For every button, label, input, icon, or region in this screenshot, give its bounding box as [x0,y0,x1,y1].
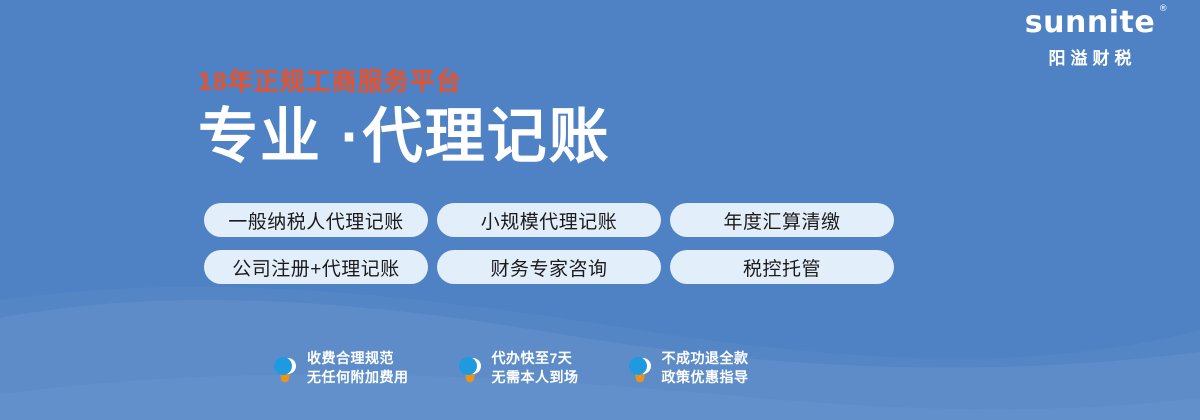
moon-circle-icon [272,353,298,383]
feature-line-2: 无需本人到场 [492,369,579,385]
feature-text: 不成功退全款 政策优惠指导 [662,349,749,387]
service-tag[interactable]: 小规模代理记账 [437,203,661,237]
feature-item: 代办快至7天 无需本人到场 [457,349,579,387]
service-tag[interactable]: 财务专家咨询 [437,250,661,284]
logo-chinese-name: 阳溢财税 [1000,44,1180,69]
feature-text: 代办快至7天 无需本人到场 [492,349,579,387]
service-tag[interactable]: 公司注册+代理记账 [204,250,428,284]
service-tag[interactable]: 一般纳税人代理记账 [204,203,428,237]
moon-circle-icon [627,353,653,383]
logo-wordmark: sunnite ® [1025,8,1155,38]
feature-line-1: 不成功退全款 [662,350,749,366]
eyebrow-text: 18年正规工商服务平台 [198,70,611,95]
service-tag-list: 一般纳税人代理记账 小规模代理记账 年度汇算清缴 公司注册+代理记账 财务专家咨… [204,203,894,284]
registered-trademark-icon: ® [1159,5,1169,14]
headline-block: 18年正规工商服务平台 专业 ·代理记账 [198,70,611,167]
logo-wordmark-text: sunnite [1025,5,1155,40]
promo-banner: sunnite ® 阳溢财税 18年正规工商服务平台 专业 ·代理记账 一般纳税… [0,0,1200,420]
service-tag[interactable]: 税控托管 [670,250,894,284]
service-tag[interactable]: 年度汇算清缴 [670,203,894,237]
feature-item: 不成功退全款 政策优惠指导 [627,349,749,387]
page-title: 专业 ·代理记账 [198,107,611,167]
feature-line-2: 无任何附加费用 [307,369,409,385]
feature-line-1: 收费合理规范 [307,350,394,366]
feature-line-2: 政策优惠指导 [662,369,749,385]
moon-circle-icon [457,353,483,383]
feature-text: 收费合理规范 无任何附加费用 [307,349,409,387]
feature-highlight-list: 收费合理规范 无任何附加费用 代办快至7天 无需本人到场 [272,349,749,387]
brand-logo[interactable]: sunnite ® 阳溢财税 [1000,8,1180,69]
feature-line-1: 代办快至7天 [492,350,573,366]
feature-item: 收费合理规范 无任何附加费用 [272,349,409,387]
